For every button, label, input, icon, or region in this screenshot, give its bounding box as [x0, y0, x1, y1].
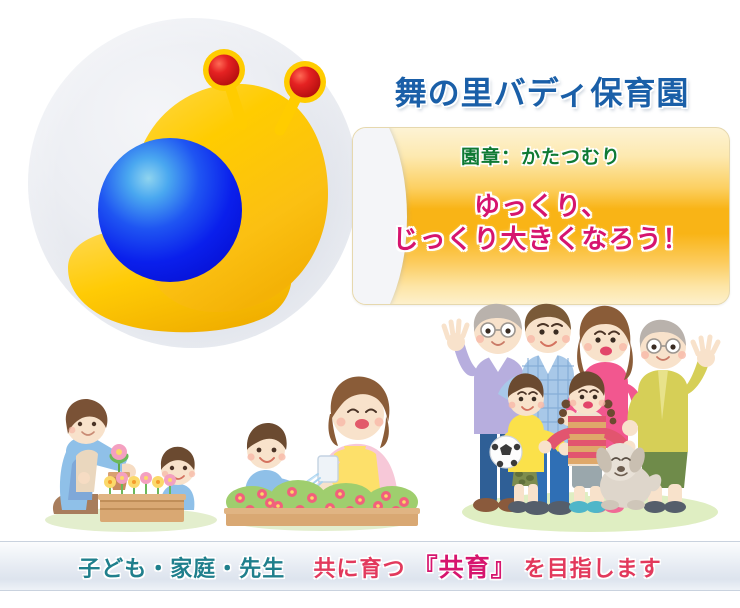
motto-panel: 園章：かたつむり ゆっくり、 じっくり大きくなろう！ [352, 127, 730, 305]
banner-segment-3: 『共育』 [413, 554, 517, 582]
snail-eye-right [284, 61, 326, 103]
banner-segment-2: 共に育つ [313, 556, 405, 581]
tagline-banner: 子ども・家庭・先生 共に育つ 『共育』 を目指します [0, 541, 740, 591]
banner-segment-1: 子ども・家庭・先生 [78, 556, 285, 581]
school-motto: ゆっくり、 じっくり大きくなろう！ [353, 190, 729, 257]
school-emblem-label: 園章：かたつむり [353, 142, 729, 169]
motto-line-2: じっくり大きくなろう！ [353, 223, 729, 256]
snail-mascot-logo [28, 18, 358, 348]
banner-segment-4: を目指します [524, 556, 662, 581]
three-generation-family-illustration [440, 300, 740, 534]
grandfather-waving-hand [444, 321, 467, 351]
soccer-ball [490, 436, 522, 468]
page-root: 舞の里バディ保育園 園章：かたつむり ゆっくり、 じっくり大きくなろう！ [0, 0, 740, 608]
motto-line-1: ゆっくり、 [353, 190, 729, 223]
snail-eye-left [203, 49, 245, 91]
banner-underglow [0, 591, 740, 608]
snail-shell [98, 138, 242, 282]
grandmother-waving-hand [693, 337, 718, 367]
page-title: 舞の里バディ保育園 [356, 68, 728, 114]
banner-text: 子ども・家庭・先生 共に育つ 『共育』 を目指します [78, 548, 662, 584]
teacher-and-child-watering-illustration [222, 358, 422, 534]
planter-box [98, 472, 186, 522]
teacher-and-child-planting-illustration [36, 382, 226, 534]
